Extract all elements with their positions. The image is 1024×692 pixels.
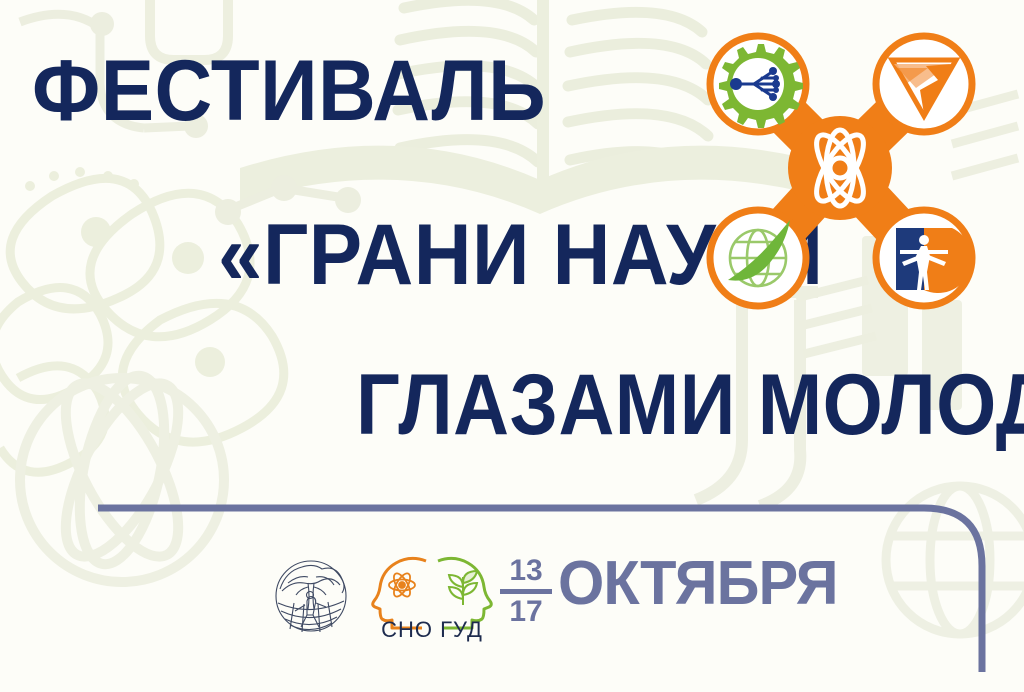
atom-in-head-icon <box>389 571 415 599</box>
poster-canvas: ФЕСТИВАЛЬ «ГРАНИ НАУКИ ГЛАЗАМИ МОЛОДЕЖИ» <box>0 0 1024 692</box>
date-block: 13 17 ОКТЯБРЯ <box>498 549 728 641</box>
sno-gud-label: СНО ГУД <box>368 617 496 643</box>
festival-logo <box>692 18 988 324</box>
vitruvian-man-icon <box>896 228 972 293</box>
headline-line-3: ГЛАЗАМИ МОЛОДЕЖИ» <box>356 362 1024 448</box>
date-fraction: 13 17 <box>498 555 554 629</box>
headline-line-1: ФЕСТИВАЛЬ <box>32 48 546 134</box>
date-day-from: 13 <box>498 555 554 587</box>
plant-in-head-icon <box>449 571 477 605</box>
footer-row: СНО ГУД 13 17 ОКТЯБРЯ <box>0 545 1024 645</box>
date-month: ОКТЯБРЯ <box>558 553 838 615</box>
university-emblem <box>272 555 350 637</box>
tree-globe-emblem-icon <box>276 561 346 632</box>
date-day-to: 17 <box>498 596 554 628</box>
date-divider <box>500 589 552 594</box>
